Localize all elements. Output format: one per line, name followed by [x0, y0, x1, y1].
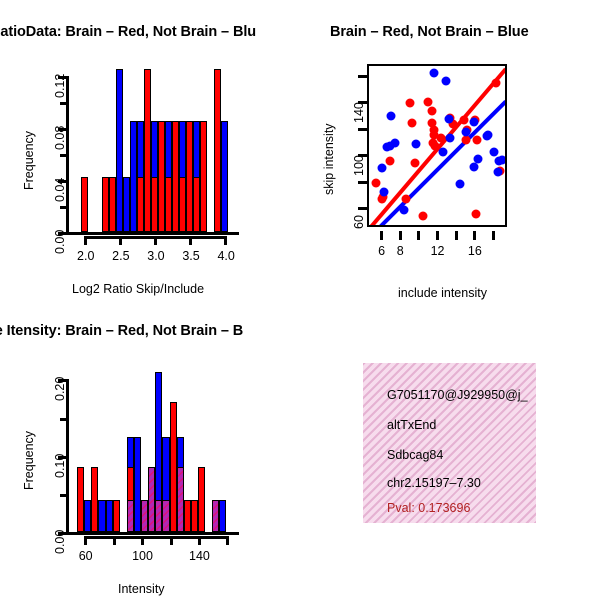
hist-bar	[134, 437, 141, 532]
hist-bar	[109, 177, 116, 232]
hist-intensity-xlabel: Intensity	[118, 582, 165, 596]
scatter-point	[371, 178, 380, 187]
info-line-3: chr2.15197–7.30	[387, 476, 481, 490]
hist-bar	[172, 121, 179, 232]
hist-bar	[123, 177, 130, 232]
info-line-2: Sdbcag84	[387, 448, 443, 462]
hist_intensity-xtick-label: 140	[189, 549, 210, 563]
scatter-xtick-label: 6	[378, 244, 385, 258]
hist-bar	[127, 500, 134, 532]
hist_ratio-ytick	[60, 102, 67, 105]
hist-bar	[214, 69, 221, 232]
scatter-point	[493, 168, 502, 177]
scatter-xtick	[399, 231, 402, 240]
hist-bar	[144, 69, 151, 232]
scatter-point	[462, 136, 471, 145]
gene-info-box: G7051170@J929950@j_ altTxEnd Sdbcag84 ch…	[363, 363, 536, 523]
hist-bar	[113, 500, 120, 532]
hist_intensity-xaxis	[84, 536, 229, 539]
hist-bar	[158, 121, 165, 232]
hist_ratio-ytick	[60, 154, 67, 157]
hist_ratio-ytick	[60, 206, 67, 209]
hist_ratio-xtick	[84, 236, 87, 245]
hist-bar	[91, 467, 98, 532]
scatter-point	[387, 112, 396, 121]
scatter-point	[411, 140, 420, 149]
hist-bar	[155, 500, 162, 532]
scatter-point	[446, 133, 455, 142]
scatter-point	[460, 116, 469, 125]
hist-bar	[186, 121, 193, 232]
hist_intensity-xtick	[141, 536, 144, 545]
hist-bar	[106, 500, 113, 532]
hist_ratio-xtick-label: 3.5	[182, 249, 199, 263]
hist-bar	[84, 500, 91, 532]
hist_intensity-ytick	[60, 418, 67, 421]
hist_ratio-xtick	[189, 236, 192, 245]
hist_ratio-xtick-label: 3.0	[147, 249, 164, 263]
hist-ratio-title: RatioData: Brain – Red, Not Brain – Blu	[0, 24, 256, 40]
scatter-point	[407, 118, 416, 127]
hist_intensity-xtick	[84, 536, 87, 545]
scatter-xtick	[380, 231, 383, 240]
hist-bar	[77, 467, 84, 532]
hist_ratio-ytick-label: 0.04	[53, 178, 67, 202]
scatter-point	[379, 187, 388, 196]
scatter-point	[497, 156, 506, 165]
scatter-point	[470, 162, 479, 171]
scatter-xtick	[417, 231, 420, 240]
hist_intensity-ytick-label: 0.20	[53, 377, 67, 401]
plot-page: RatioData: Brain – Red, Not Brain – Blu …	[0, 0, 600, 600]
scatter-ytick-label: 60	[352, 215, 366, 229]
hist_intensity-ytick-label: 0.00	[53, 530, 67, 554]
scatter-point	[406, 99, 415, 108]
hist-bar	[162, 500, 169, 532]
hist-bar	[212, 500, 219, 532]
scatter-xtick	[455, 231, 458, 240]
hist-bar	[81, 177, 88, 232]
scatter-fit-line	[376, 100, 507, 227]
hist-bar	[151, 177, 158, 232]
scatter-point	[469, 117, 478, 126]
hist_intensity-xtick	[226, 536, 229, 545]
info-line-1: altTxEnd	[387, 418, 436, 432]
hist_intensity-xtick	[198, 536, 201, 545]
scatter-point	[430, 68, 439, 77]
scatter-ytick	[358, 75, 367, 78]
hist-bar	[200, 121, 207, 232]
scatter-point	[438, 148, 447, 157]
hist-bar	[102, 177, 109, 232]
scatter-point	[462, 128, 471, 137]
hist-bar	[141, 500, 148, 532]
hist-bar	[116, 69, 123, 232]
scatter-ylabel: skip intensity	[322, 123, 336, 195]
hist-ratio-xlabel: Log2 Ratio Skip/Include	[72, 282, 204, 296]
hist_ratio-ytick-label: 0.12	[53, 73, 67, 97]
scatter-point	[419, 211, 428, 220]
scatter-point	[474, 154, 483, 163]
scatter-point	[441, 76, 450, 85]
scatter-point	[391, 138, 400, 147]
hist_ratio-xtick	[224, 236, 227, 245]
scatter-point	[427, 107, 436, 116]
hist-bar	[148, 467, 155, 532]
hist-bar	[198, 467, 205, 532]
scatter-point	[423, 97, 432, 106]
hist-bar	[184, 500, 191, 532]
hist-bar	[191, 500, 198, 532]
hist-bar	[193, 177, 200, 232]
hist-bar	[170, 402, 177, 532]
hist-bar	[221, 121, 228, 232]
hist_ratio-baseline	[68, 232, 239, 235]
hist_ratio-xtick	[119, 236, 122, 245]
scatter-ytick	[358, 207, 367, 210]
scatter-ytick	[358, 128, 367, 131]
scatter-point	[491, 79, 500, 88]
hist-bar	[179, 177, 186, 232]
hist_intensity-xtick	[113, 536, 116, 545]
scatter-point	[484, 130, 493, 139]
hist_intensity-baseline	[68, 532, 239, 535]
hist-intensity-title: ne Itensity: Brain – Red, Not Brain – B	[0, 323, 243, 339]
scatter-point	[490, 148, 499, 157]
scatter-point	[402, 194, 411, 203]
hist_intensity-ytick-label: 0.10	[53, 453, 67, 477]
hist_ratio-xtick-label: 2.5	[112, 249, 129, 263]
hist_intensity-ytick	[60, 494, 67, 497]
info-line-0: G7051170@J929950@j_	[387, 388, 528, 402]
hist_ratio-ytick-label: 0.08	[53, 125, 67, 149]
scatter-xtick-label: 12	[431, 244, 445, 258]
scatter-ytick	[358, 181, 367, 184]
hist_ratio-xtick-label: 4.0	[217, 249, 234, 263]
scatter-ytick-label: 140	[352, 102, 366, 123]
hist-bar	[130, 121, 137, 232]
scatter-xtick	[436, 231, 439, 240]
hist-bar	[98, 500, 105, 532]
hist_intensity-xtick	[170, 536, 173, 545]
scatter-xtick-label: 8	[397, 244, 404, 258]
hist-intensity-ylabel: Frequency	[22, 431, 36, 490]
scatter-point	[386, 157, 395, 166]
scatter-xtick-label: 16	[468, 244, 482, 258]
scatter-point	[445, 115, 454, 124]
scatter-xtick	[492, 231, 495, 240]
hist-bar	[219, 500, 226, 532]
scatter-point	[473, 136, 482, 145]
scatter-point	[399, 206, 408, 215]
hist_intensity-xtick-label: 60	[79, 549, 93, 563]
scatter-plot-area	[367, 64, 507, 227]
hist-ratio-ylabel: Frequency	[22, 131, 36, 190]
scatter-title: Brain – Red, Not Brain – Blue	[330, 24, 529, 40]
scatter-point	[410, 158, 419, 167]
scatter-point	[436, 133, 445, 142]
hist-bar	[165, 177, 172, 232]
hist_intensity-xtick-label: 100	[132, 549, 153, 563]
hist_ratio-xtick	[154, 236, 157, 245]
hist_ratio-xtick-label: 2.0	[77, 249, 94, 263]
scatter-xtick	[473, 231, 476, 240]
scatter-point	[378, 164, 387, 173]
hist_ratio-ytick-label: 0.00	[53, 230, 67, 254]
scatter-point	[455, 179, 464, 188]
hist-bar	[137, 177, 144, 232]
scatter-point	[472, 210, 481, 219]
hist-bar	[177, 467, 184, 532]
scatter-ytick-label: 100	[352, 155, 366, 176]
info-pval: Pval: 0.173696	[387, 501, 470, 515]
scatter-xlabel: include intensity	[398, 286, 487, 300]
